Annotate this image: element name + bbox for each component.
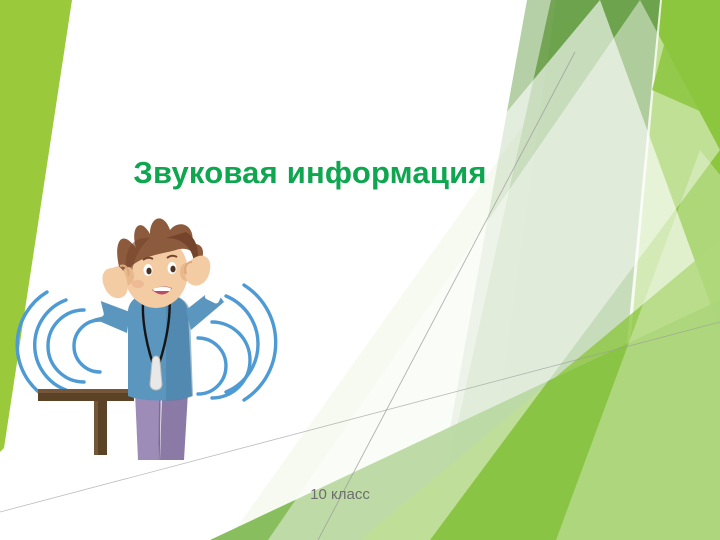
subtitle-placeholder[interactable]: 10 класс — [230, 486, 450, 504]
left-green-wedge — [0, 0, 72, 452]
page-title: Звуковая информация — [60, 155, 560, 191]
slide-subtitle: 10 класс — [230, 486, 450, 504]
presentation-slide: Звуковая информация 10 класс — [0, 0, 720, 540]
title-placeholder[interactable]: Звуковая информация — [60, 155, 560, 191]
slide-background-graphics — [0, 0, 720, 540]
